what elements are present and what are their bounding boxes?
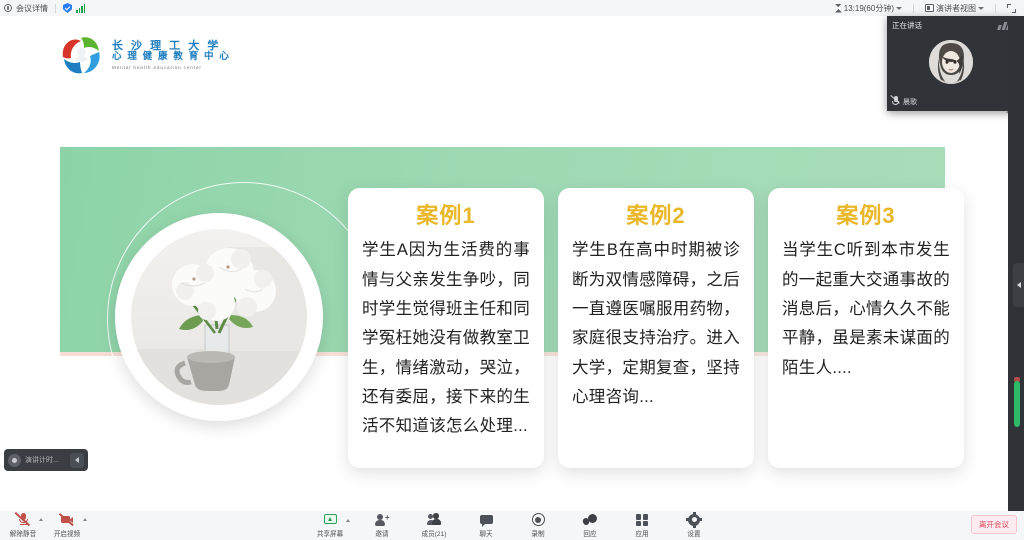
apps-label: 应用 [635, 528, 648, 538]
camera-off-icon [60, 512, 75, 527]
chat-button[interactable]: 聊天 [468, 512, 504, 538]
user-avatar [929, 40, 973, 84]
chevron-down-icon [896, 7, 902, 10]
scroll-indicator[interactable] [1014, 381, 1020, 427]
video-top-row: 正在讲话 [887, 16, 1015, 34]
timer-label: 13:19(60分钟) [844, 3, 894, 14]
top-bar: 会议详情 13:19(60分钟) 演讲者视图 [0, 0, 1024, 16]
chevron-left-icon[interactable] [70, 453, 84, 468]
security-shield-icon[interactable] [63, 3, 72, 13]
leave-meeting-button[interactable]: 离开会议 [971, 515, 1017, 534]
case-card-1[interactable]: 案例1 学生A因为生活费的事情与父亲发生争吵，同时学生觉得班主任和同学冤枉她没有… [348, 188, 544, 468]
divider [995, 4, 996, 13]
participants-label: 成员(21) [422, 528, 447, 538]
organization-logo: 长 沙 理 工 大 学 心 理 健 康 教 育 中 心 Mental healt… [58, 32, 230, 78]
video-bottom-row: 晨歌 [892, 96, 917, 107]
meeting-window: 会议详情 13:19(60分钟) 演讲者视图 [0, 0, 1024, 540]
flowers-photo [131, 229, 307, 405]
divider [913, 4, 914, 13]
top-bar-left: 会议详情 [4, 3, 85, 14]
presentation-slide: 长 沙 理 工 大 学 心 理 健 康 教 育 中 心 Mental healt… [0, 16, 1008, 511]
reactions-button[interactable]: 回应 [572, 512, 608, 538]
logo-text-block: 长 沙 理 工 大 学 心 理 健 康 教 育 中 心 Mental healt… [112, 40, 230, 70]
invite-label: 邀请 [375, 528, 388, 538]
start-video-label: 开启视频 [54, 528, 80, 538]
divider [55, 4, 56, 13]
right-rail [1008, 16, 1024, 511]
record-dot-icon[interactable] [8, 454, 21, 467]
logo-line-3: Mental health education center [112, 65, 230, 70]
chat-label: 聊天 [479, 528, 492, 538]
case-card-1-title: 案例1 [362, 204, 530, 228]
layout-view-icon [925, 4, 934, 12]
fullscreen-icon[interactable] [1007, 4, 1016, 13]
hourglass-icon [835, 4, 842, 13]
settings-button[interactable]: 设置 [676, 512, 712, 538]
view-switcher[interactable]: 演讲者视图 [925, 3, 984, 14]
presenter-video-thumbnail[interactable]: 正在讲话 晨歌 [887, 16, 1015, 111]
apps-icon [635, 512, 650, 527]
case-card-3-body: 当学生C听到本市发生的一起重大交通事故的消息后，心情久久不能平静，虽是素未谋面的… [782, 236, 950, 383]
start-video-button[interactable]: 开启视频 [50, 512, 84, 538]
top-bar-right: 13:19(60分钟) 演讲者视图 [835, 3, 1020, 14]
bottom-toolbar: 解除静音 开启视频 共享屏幕 + 邀请 [0, 511, 1024, 540]
invite-button[interactable]: + 邀请 [364, 512, 400, 538]
case-card-3-title: 案例3 [782, 204, 950, 228]
chat-icon [479, 512, 494, 527]
case-card-2-body: 学生B在高中时期被诊断为双情感障碍，之后一直遵医嘱服用药物，家庭很支持治疗。进入… [572, 236, 740, 412]
case-card-2-title: 案例2 [572, 204, 740, 228]
mic-muted-icon [16, 512, 31, 527]
network-signal-icon[interactable] [76, 4, 85, 13]
invite-icon: + [375, 512, 390, 527]
chevron-up-icon[interactable] [39, 518, 43, 521]
participants-button[interactable]: 成员(21) [416, 512, 452, 538]
reactions-icon [583, 512, 598, 527]
photo-frame [115, 213, 323, 421]
reactions-label: 回应 [583, 528, 596, 538]
university-mental-health-logo-icon [58, 32, 104, 78]
participant-name: 晨歌 [903, 97, 917, 107]
settings-label: 设置 [687, 528, 700, 538]
chevron-down-icon [978, 7, 984, 10]
shared-screen-stage[interactable]: 长 沙 理 工 大 学 心 理 健 康 教 育 中 心 Mental healt… [0, 16, 1008, 511]
av-controls: 解除静音 开启视频 [6, 512, 84, 538]
mic-muted-icon[interactable] [892, 96, 900, 107]
panel-collapse-icon[interactable] [1013, 263, 1024, 307]
meeting-timer[interactable]: 13:19(60分钟) [835, 3, 902, 14]
participants-icon [427, 512, 442, 527]
meeting-info-label[interactable]: 会议详情 [16, 3, 48, 14]
case-card-3[interactable]: 案例3 当学生C听到本市发生的一起重大交通事故的消息后，心情久久不能平静，虽是素… [768, 188, 964, 468]
view-label: 演讲者视图 [936, 3, 976, 14]
record-icon [531, 512, 546, 527]
unmute-button[interactable]: 解除静音 [6, 512, 40, 538]
share-screen-label: 共享屏幕 [317, 528, 343, 538]
apps-button[interactable]: 应用 [624, 512, 660, 538]
unmute-label: 解除静音 [10, 528, 36, 538]
center-tools: 共享屏幕 + 邀请 成员(21) 聊天 录制 回应 [312, 512, 712, 538]
case-cards: 案例1 学生A因为生活费的事情与父亲发生争吵，同时学生觉得班主任和同学冤枉她没有… [348, 188, 964, 468]
share-screen-button[interactable]: 共享屏幕 [312, 512, 348, 538]
share-screen-icon [323, 512, 338, 527]
record-label: 录制 [531, 528, 544, 538]
settings-gear-icon [687, 512, 702, 527]
info-icon[interactable] [4, 4, 12, 12]
speaking-label: 正在讲话 [892, 20, 922, 31]
chevron-up-icon[interactable] [346, 519, 350, 522]
presenter-float-toolbar[interactable]: 演讲计时... [4, 449, 88, 471]
case-card-2[interactable]: 案例2 学生B在高中时期被诊断为双情感障碍，之后一直遵医嘱服用药物，家庭很支持治… [558, 188, 754, 468]
record-button[interactable]: 录制 [520, 512, 556, 538]
case-card-1-body: 学生A因为生活费的事情与父亲发生争吵，同时学生觉得班主任和同学冤枉她没有做教室卫… [362, 236, 530, 442]
logo-line-2: 心 理 健 康 教 育 中 心 [112, 52, 230, 63]
float-bar-label: 演讲计时... [25, 455, 66, 465]
chevron-up-icon[interactable] [83, 518, 87, 521]
